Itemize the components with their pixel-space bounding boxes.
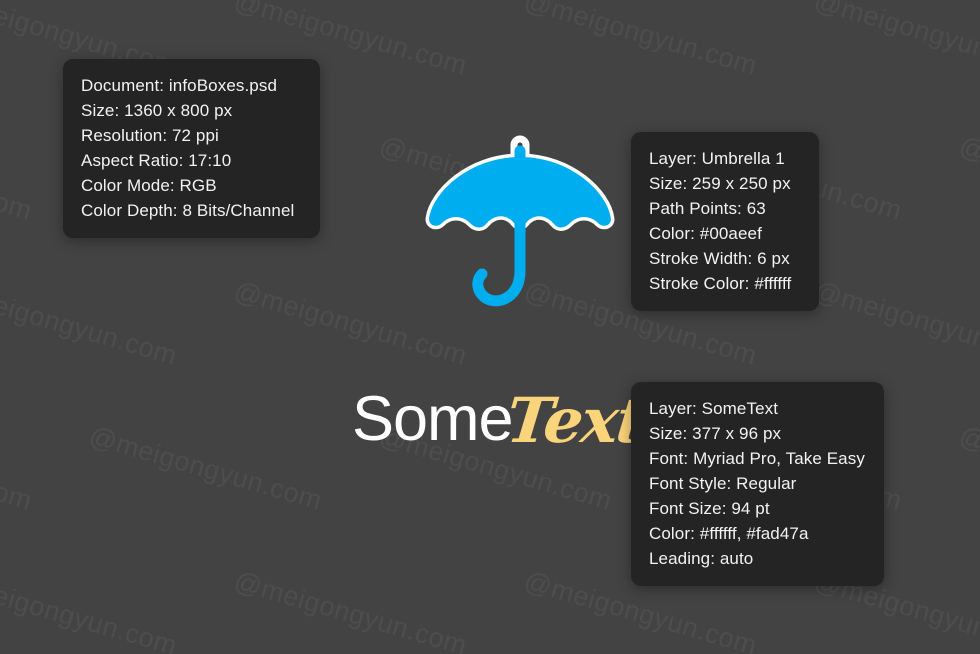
info-line: Font Size: 94 pt bbox=[649, 496, 866, 521]
info-line: Leading: auto bbox=[649, 546, 866, 571]
info-line: Stroke Color: #ffffff bbox=[649, 271, 801, 296]
info-line: Font Style: Regular bbox=[649, 471, 866, 496]
info-box-document: Document: infoBoxes.psd Size: 1360 x 800… bbox=[63, 59, 320, 238]
info-line: Path Points: 63 bbox=[649, 196, 801, 221]
info-box-umbrella: Layer: Umbrella 1 Size: 259 x 250 px Pat… bbox=[631, 132, 819, 311]
info-line: Layer: SomeText bbox=[649, 396, 866, 421]
info-line: Size: 377 x 96 px bbox=[649, 421, 866, 446]
info-boxes-layer: Document: infoBoxes.psd Size: 1360 x 800… bbox=[0, 0, 980, 654]
info-line: Aspect Ratio: 17:10 bbox=[81, 148, 302, 173]
infobox-canvas: @meigongyun.com@meigongyun.com@meigongyu… bbox=[0, 0, 980, 654]
info-line: Resolution: 72 ppi bbox=[81, 123, 302, 148]
info-line: Stroke Width: 6 px bbox=[649, 246, 801, 271]
info-line: Color: #00aeef bbox=[649, 221, 801, 246]
info-line: Color Depth: 8 Bits/Channel bbox=[81, 198, 302, 223]
info-line: Layer: Umbrella 1 bbox=[649, 146, 801, 171]
info-line: Color Mode: RGB bbox=[81, 173, 302, 198]
info-line: Font: Myriad Pro, Take Easy bbox=[649, 446, 866, 471]
info-line: Color: #ffffff, #fad47a bbox=[649, 521, 866, 546]
info-line: Document: infoBoxes.psd bbox=[81, 73, 302, 98]
info-line: Size: 259 x 250 px bbox=[649, 171, 801, 196]
info-line: Size: 1360 x 800 px bbox=[81, 98, 302, 123]
info-box-sometext: Layer: SomeText Size: 377 x 96 px Font: … bbox=[631, 382, 884, 586]
